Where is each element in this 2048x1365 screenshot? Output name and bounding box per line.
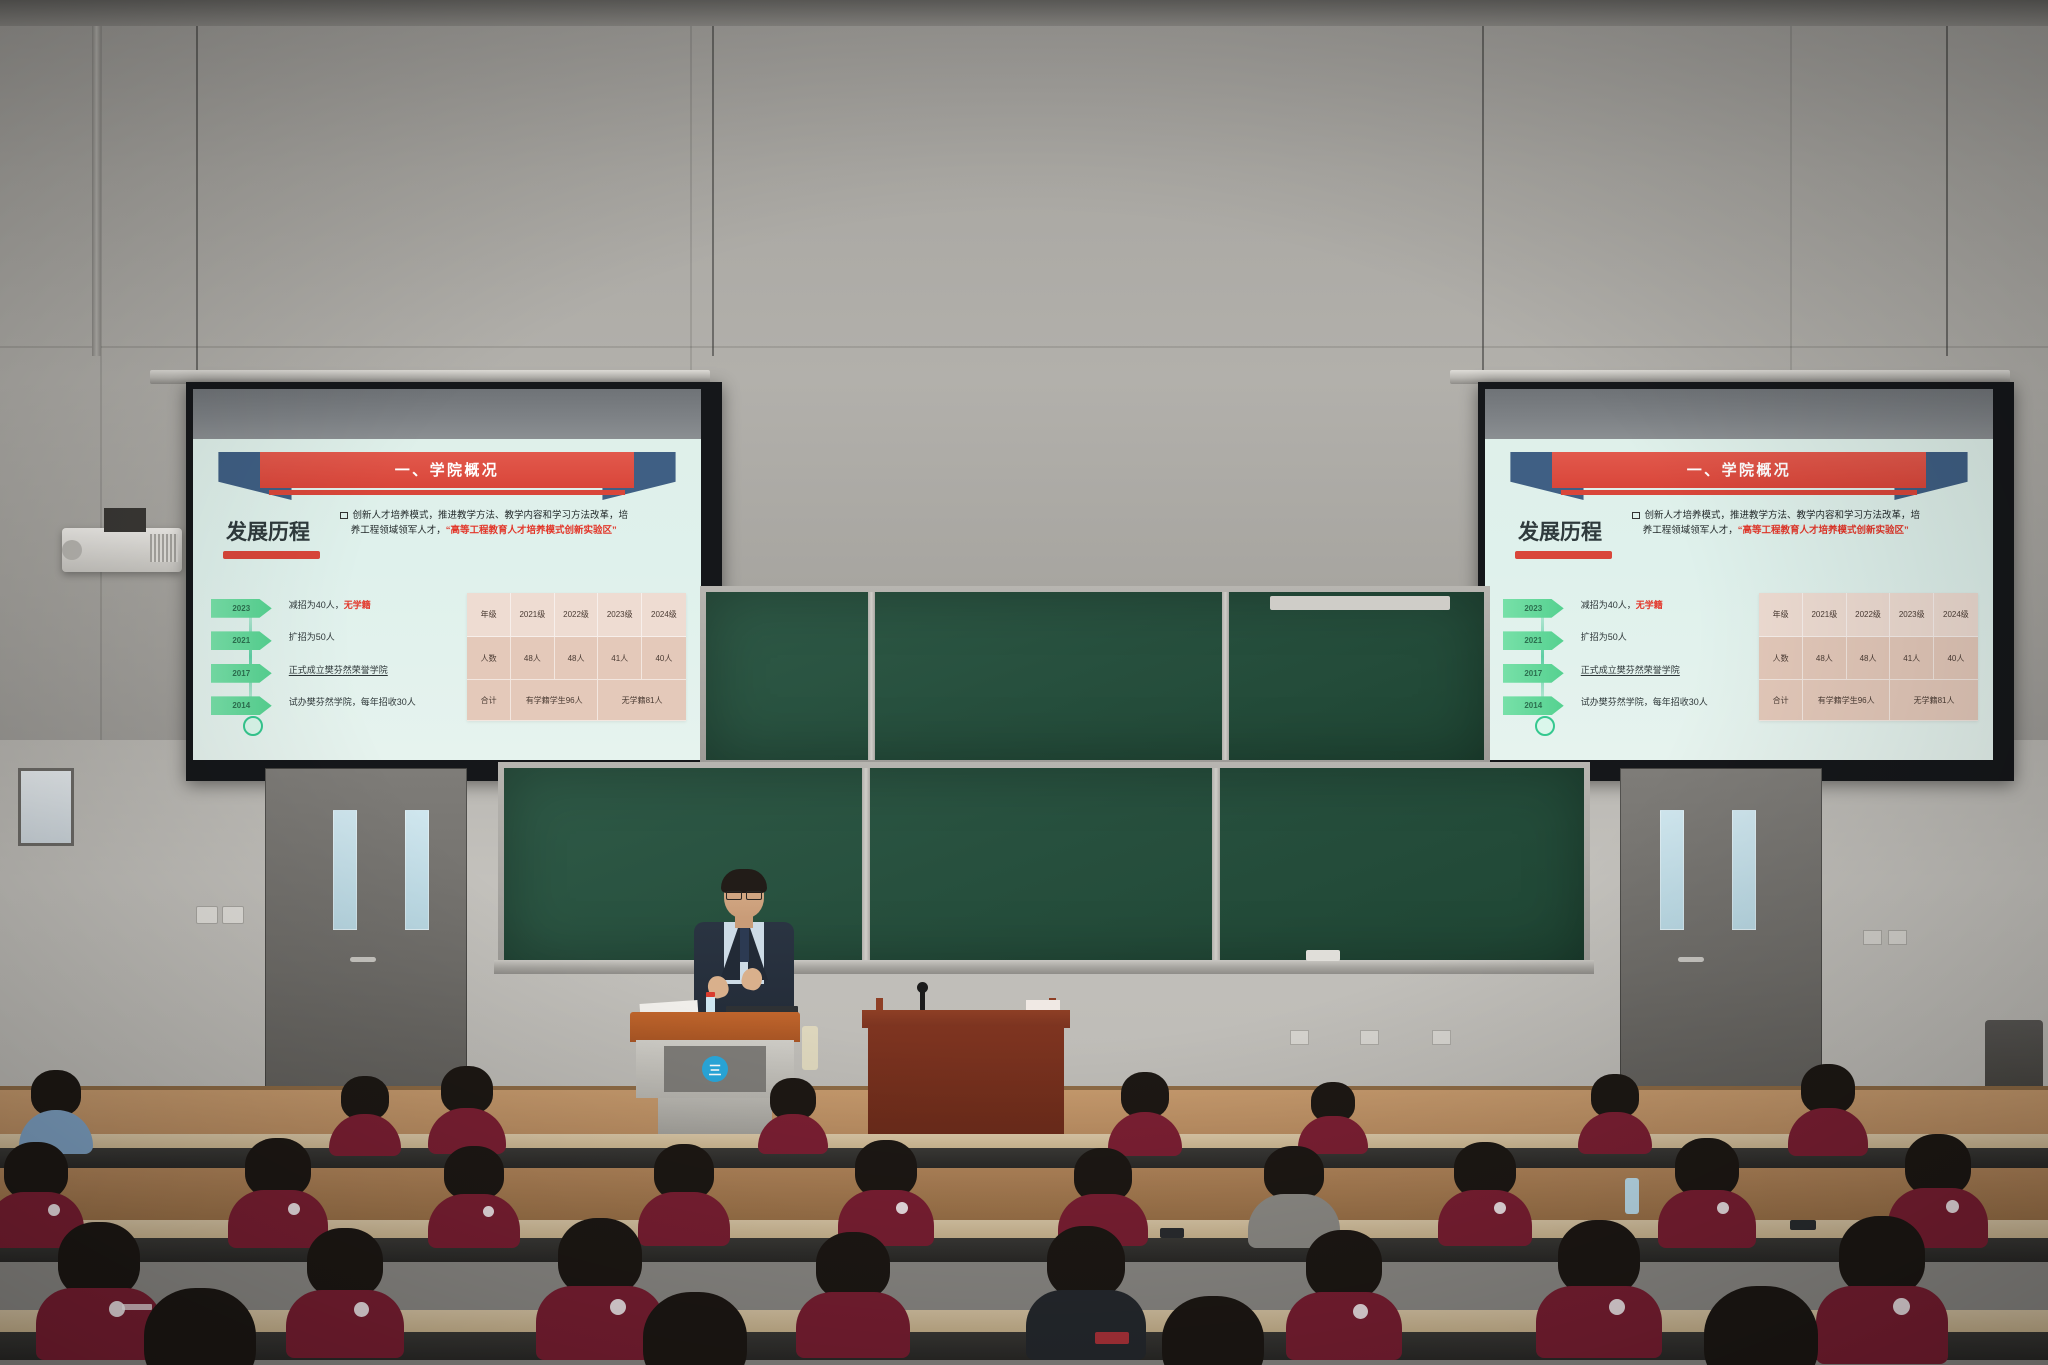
timeline-text: 试办樊芬然学院，每年招收30人 <box>289 695 455 708</box>
lectern-top <box>630 1012 800 1042</box>
timeline-year-label: 2023 <box>232 604 250 613</box>
table-cell: 48人 <box>555 637 599 681</box>
student-head <box>58 1222 140 1298</box>
audience-member <box>800 1232 906 1352</box>
enrollment-table: 年级 2021级 2022级 2023级 2024级 人数 48人 48人 41… <box>467 593 685 721</box>
bullet-line-1: 创新人才培养模式，推进教学方法、教学内容和学习方法改革，培 <box>352 510 628 521</box>
audience-member <box>1110 1072 1180 1152</box>
bullet-square-icon <box>1632 512 1640 520</box>
bullet-highlight-quote: “高等工程教育人才培养模式创新实验区” <box>446 525 617 536</box>
timeline-year-label: 2017 <box>1524 669 1542 678</box>
table-cell: 40人 <box>1934 637 1978 681</box>
table-cell: 人数 <box>1759 637 1803 681</box>
enrollment-table: 年级 2021级 2022级 2023级 2024级 人数 48人 48人 41… <box>1759 593 1977 721</box>
bullet-square-icon <box>340 512 348 520</box>
timeline-year-label: 2014 <box>232 701 250 710</box>
table-cell: 2023级 <box>1890 593 1934 637</box>
slide-top-letterbox-left <box>193 389 701 439</box>
student-shirt <box>758 1114 828 1154</box>
student-shirt <box>286 1290 404 1358</box>
screen-hanging-wire-left <box>196 26 198 376</box>
water-bottle-cap <box>706 992 715 997</box>
student-shirt <box>1788 1108 1868 1156</box>
audience-member <box>1580 1074 1650 1152</box>
timeline-row: 2017 正式成立樊芬然荣誉学院 <box>211 658 455 690</box>
student-shirt <box>1286 1292 1402 1360</box>
audience-seating <box>0 1060 2048 1365</box>
section-heading: 发展历程 <box>226 516 310 546</box>
student-head <box>1306 1230 1382 1300</box>
student-head <box>1905 1134 1971 1196</box>
banner-title: 一、学院概况 <box>395 459 499 480</box>
table-cell: 有学籍学生96人 <box>511 680 598 721</box>
shirt-logo <box>48 1204 60 1216</box>
timeline-highlight: 无学籍 <box>1636 600 1663 610</box>
shirt-logo <box>1353 1304 1368 1319</box>
microphone-head <box>917 982 928 993</box>
door-left[interactable] <box>265 768 467 1100</box>
student-head <box>1704 1286 1818 1365</box>
shirt-logo <box>1946 1200 1959 1213</box>
ceiling-band <box>0 0 2048 26</box>
table-cell: 合计 <box>467 680 511 721</box>
glasses-icon <box>726 891 762 898</box>
wall-poster <box>18 768 74 846</box>
audience-member <box>1540 1220 1658 1352</box>
wall-outlet-5 <box>1432 1030 1451 1045</box>
table-cell: 2021级 <box>1803 593 1847 637</box>
chalkboard-chalk-rail <box>494 960 1594 974</box>
slide-top-letterbox-right <box>1485 389 1993 439</box>
student-head <box>558 1218 642 1296</box>
student-head <box>144 1288 256 1365</box>
door-right-window <box>1660 810 1684 930</box>
table-cell: 41人 <box>598 637 642 681</box>
audience-member <box>1790 1064 1866 1152</box>
banner-underbar <box>1561 490 1918 495</box>
student-shirt <box>329 1114 401 1156</box>
table-cell: 合计 <box>1759 680 1803 721</box>
timeline-text: 减招为40人，无学籍 <box>289 598 455 611</box>
student-head <box>643 1292 747 1365</box>
screen-hanging-wire-right-2 <box>1946 26 1948 356</box>
timeline-row: 2023 减招为40人，无学籍 <box>211 593 455 625</box>
audience-member <box>1290 1230 1398 1352</box>
bullet-line-2a: 养工程领域领军人才， <box>1643 525 1738 536</box>
bullet-highlight-quote: “高等工程教育人才培养模式创新实验区” <box>1738 525 1909 536</box>
timeline: 2023 减招为40人，无学籍 2021 扩招为50人 2017 正式成立樊芬然… <box>1503 593 1747 741</box>
audience-member-foreground <box>620 1292 770 1365</box>
table-cell: 48人 <box>1803 637 1847 681</box>
chalkboard-divider <box>868 592 875 760</box>
student-head <box>307 1228 383 1298</box>
slide-bullet-block: 创新人才培养模式，推进教学方法、教学内容和学习方法改革，培 养工程领域领军人才，… <box>340 508 675 538</box>
timeline: 2023 减招为40人，无学籍 2021 扩招为50人 2017 正式成立樊芬然… <box>211 593 455 741</box>
table-cell: 2024级 <box>1934 593 1978 637</box>
shirt-logo <box>483 1206 494 1217</box>
speaker-tie <box>740 928 749 962</box>
slide-banner-left: 一、学院概况 <box>218 452 675 500</box>
timeline-year-chip: 2014 <box>1503 696 1564 715</box>
door-right-window-2 <box>1732 810 1756 930</box>
wall-conduit <box>92 26 101 356</box>
phone-on-bench <box>1160 1228 1184 1238</box>
student-shirt <box>1026 1290 1146 1360</box>
door-left-handle[interactable] <box>350 957 376 962</box>
timeline-year-chip: 2021 <box>1503 631 1564 650</box>
banner-underbar <box>269 490 626 495</box>
table-cell: 48人 <box>511 637 555 681</box>
student-shirt <box>1578 1112 1652 1154</box>
chalkboard-divider <box>862 768 870 964</box>
student-shirt <box>1658 1190 1756 1248</box>
table-row: 年级 2021级 2022级 2023级 2024级 <box>467 593 685 637</box>
timeline-year-label: 2021 <box>232 636 250 645</box>
screen-hanging-wire-right <box>1482 26 1484 376</box>
timeline-text: 扩招为50人 <box>1581 630 1747 643</box>
banner-bar: 一、学院概况 <box>1552 452 1927 488</box>
timeline-text: 正式成立樊芬然荣誉学院 <box>1581 663 1747 676</box>
projector-mount <box>104 508 146 532</box>
audience-member <box>430 1146 518 1242</box>
timeline-year-chip: 2023 <box>211 599 272 618</box>
timeline-year-label: 2017 <box>232 669 250 678</box>
light-switch-2[interactable] <box>222 906 244 924</box>
audience-member <box>230 1138 326 1242</box>
table-cell: 48人 <box>1847 637 1891 681</box>
chalkboard-divider <box>1222 592 1229 760</box>
chalk-eraser <box>1306 950 1340 961</box>
table-cell: 人数 <box>467 637 511 681</box>
door-right[interactable] <box>1620 768 1822 1100</box>
student-shirt <box>428 1194 520 1248</box>
speaker-hair <box>721 869 767 893</box>
table-cell: 40人 <box>642 637 686 681</box>
shirt-logo <box>1717 1202 1729 1214</box>
table-cell: 2023级 <box>598 593 642 637</box>
slide-canvas-left: 一、学院概况 发展历程 创新人才培养模式，推进教学方法、教学内容和学习方法改革，… <box>193 439 701 760</box>
timeline-text: 正式成立樊芬然荣誉学院 <box>289 663 455 676</box>
table-cell: 41人 <box>1890 637 1934 681</box>
section-heading-rule <box>223 551 320 559</box>
bullet-line-2a: 养工程领域领军人才， <box>351 525 446 536</box>
lecture-hall-photo: 一、学院概况 发展历程 创新人才培养模式，推进教学方法、教学内容和学习方法改革，… <box>0 0 2048 1365</box>
table-row: 人数 48人 48人 41人 40人 <box>467 637 685 681</box>
student-shirt <box>796 1292 910 1358</box>
wall-outlet <box>1863 930 1882 945</box>
shirt-logo <box>1893 1298 1910 1315</box>
audience-member <box>1440 1142 1530 1242</box>
timeline-year-label: 2023 <box>1524 604 1542 613</box>
audience-member-foreground <box>1680 1286 1842 1365</box>
slide-banner-right: 一、学院概况 <box>1510 452 1967 500</box>
audience-member <box>20 1070 92 1150</box>
student-head <box>245 1138 311 1198</box>
water-bottle-on-bench <box>1625 1178 1639 1214</box>
audience-member-foreground <box>1140 1296 1286 1365</box>
section-heading: 发展历程 <box>1518 516 1602 546</box>
chalkboard-upper <box>706 592 1484 760</box>
chalkboard-main <box>504 768 1584 964</box>
table-cell: 2022级 <box>1847 593 1891 637</box>
audience-member <box>290 1228 400 1352</box>
student-shirt <box>1438 1190 1532 1246</box>
audience-member-foreground <box>120 1288 280 1365</box>
table-row: 合计 有学籍学生96人 无学籍81人 <box>467 680 685 721</box>
timeline-text: 减招为40人，无学籍 <box>1581 598 1747 611</box>
student-head <box>816 1232 890 1300</box>
table-cell: 无学籍81人 <box>1890 680 1977 721</box>
audience-member <box>1250 1146 1338 1242</box>
shirt-logo <box>354 1302 369 1317</box>
student-head <box>1047 1226 1125 1298</box>
section-heading-rule <box>1515 551 1612 559</box>
shirt-logo <box>1494 1202 1506 1214</box>
audience-member <box>760 1078 826 1152</box>
table-cell: 2024级 <box>642 593 686 637</box>
timeline-year-chip: 2017 <box>211 664 272 683</box>
table-cell: 无学籍81人 <box>598 680 685 721</box>
table-cell: 年级 <box>467 593 511 637</box>
timeline-year-chip: 2021 <box>211 631 272 650</box>
audience-member <box>840 1140 932 1242</box>
table-cell: 有学籍学生96人 <box>1803 680 1890 721</box>
phone-on-bench-2 <box>1790 1220 1816 1230</box>
screen-hanging-wire-left-2 <box>712 26 714 356</box>
timeline-row: 2014 试办樊芬然学院，每年招收30人 <box>211 691 455 723</box>
timeline-row: 2014 试办樊芬然学院，每年招收30人 <box>1503 691 1747 723</box>
projection-screen-right: 一、学院概况 发展历程 创新人才培养模式，推进教学方法、教学内容和学习方法改革，… <box>1478 382 2014 781</box>
timeline-year-label: 2014 <box>1524 701 1542 710</box>
slide-canvas-right: 一、学院概况 发展历程 创新人才培养模式，推进教学方法、教学内容和学习方法改革，… <box>1485 439 1993 760</box>
wall-seam-horizontal <box>0 346 2048 348</box>
shirt-logo <box>288 1203 300 1215</box>
timeline-year-label: 2021 <box>1524 636 1542 645</box>
student-head <box>1264 1146 1324 1200</box>
student-head <box>1801 1064 1855 1114</box>
shirt-logo <box>1609 1299 1625 1315</box>
wall-outlet-4 <box>1360 1030 1379 1045</box>
student-head <box>1839 1216 1925 1296</box>
projector-vent <box>150 534 178 562</box>
wall-outlet-3 <box>1290 1030 1309 1045</box>
projection-screen-left: 一、学院概况 发展历程 创新人才培养模式，推进教学方法、教学内容和学习方法改革，… <box>186 382 722 781</box>
table-cell: 2022级 <box>555 593 599 637</box>
table-row: 年级 2021级 2022级 2023级 2024级 <box>1759 593 1977 637</box>
red-item-on-bench <box>1095 1332 1129 1344</box>
timeline-year-chip: 2023 <box>1503 599 1564 618</box>
screen-right-surface: 一、学院概况 发展历程 创新人才培养模式，推进教学方法、教学内容和学习方法改革，… <box>1485 389 1993 760</box>
timeline-year-chip: 2014 <box>211 696 272 715</box>
timeline-row: 2017 正式成立樊芬然荣誉学院 <box>1503 658 1747 690</box>
table-cell: 2021级 <box>511 593 555 637</box>
student-head <box>444 1146 504 1200</box>
door-left-window <box>333 810 357 930</box>
timeline-row: 2023 减招为40人，无学籍 <box>1503 593 1747 625</box>
banner-bar: 一、学院概况 <box>260 452 635 488</box>
student-head <box>441 1066 493 1114</box>
student-head <box>1558 1220 1640 1296</box>
table-row: 合计 有学籍学生96人 无学籍81人 <box>1759 680 1977 721</box>
student-head <box>1162 1296 1264 1365</box>
banner-title: 一、学院概况 <box>1687 459 1791 480</box>
wall-outlet-2 <box>1888 930 1907 945</box>
timeline-highlight: 无学籍 <box>344 600 371 610</box>
timeline-year-chip: 2017 <box>1503 664 1564 683</box>
bullet-line-1: 创新人才培养模式，推进教学方法、教学内容和学习方法改革，培 <box>1644 510 1920 521</box>
screen-left-surface: 一、学院概况 发展历程 创新人才培养模式，推进教学方法、教学内容和学习方法改革，… <box>193 389 701 760</box>
door-right-handle[interactable] <box>1678 957 1704 962</box>
shirt-logo <box>896 1202 908 1214</box>
chalkboard-divider <box>1212 768 1220 964</box>
timeline-text: 试办樊芬然学院，每年招收30人 <box>1581 695 1747 708</box>
door-left-window-2 <box>405 810 429 930</box>
table-cell: 年级 <box>1759 593 1803 637</box>
audience-member <box>330 1076 400 1152</box>
chalkboard-tray-marker <box>1270 596 1450 610</box>
audience-member <box>430 1066 504 1150</box>
projector-lens <box>62 540 82 560</box>
table-row: 人数 48人 48人 41人 40人 <box>1759 637 1977 681</box>
timeline-row: 2021 扩招为50人 <box>211 626 455 658</box>
slide-bullet-block: 创新人才培养模式，推进教学方法、教学内容和学习方法改革，培 养工程领域领军人才，… <box>1632 508 1967 538</box>
timeline-text: 扩招为50人 <box>289 630 455 643</box>
student-head <box>1675 1138 1739 1198</box>
light-switch[interactable] <box>196 906 218 924</box>
timeline-row: 2021 扩招为50人 <box>1503 626 1747 658</box>
audience-member <box>1300 1082 1366 1152</box>
audience-member <box>1660 1138 1754 1242</box>
student-shirt <box>1536 1286 1662 1358</box>
